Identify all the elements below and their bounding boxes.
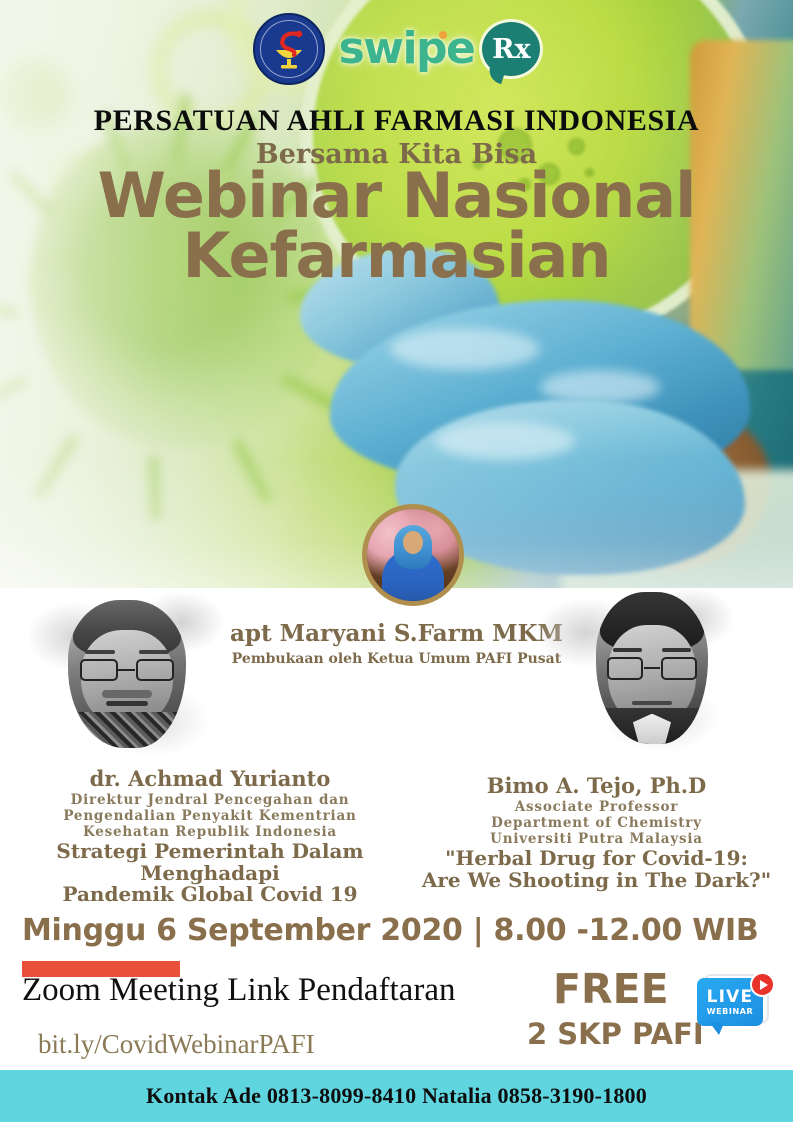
contact-bar: Kontak Ade 0813-8099-8410 Natalia 0858-3… — [0, 1070, 793, 1122]
speaker-affiliation-left: Direktur Jendral Pencegahan dan Pengenda… — [0, 793, 420, 841]
avatar — [596, 592, 708, 744]
live-badge-line1: LIVE — [707, 989, 754, 1006]
organization-name: PERSATUAN AHLI FARMASI INDONESIA — [0, 104, 793, 138]
speaker-topic-right: "Herbal Drug for Covid-19: Are We Shooti… — [400, 848, 793, 891]
logo-bar: swipe Rx — [0, 6, 793, 92]
webinar-poster: swipe Rx PERSATUAN AHLI FARMASI INDONESI… — [0, 0, 793, 1122]
swiperx-logo: swipe Rx — [339, 22, 541, 76]
live-webinar-badge: LIVE WEBINAR — [697, 972, 775, 1040]
live-badge-line2: WEBINAR — [707, 1008, 754, 1016]
speaker-topic-left: Strategi Pemerintah Dalam Menghadapi Pan… — [0, 841, 420, 906]
title-line-2: Kefarmasian — [0, 226, 793, 286]
avatar — [68, 600, 186, 748]
rx-label: Rx — [492, 36, 531, 63]
registration-link[interactable]: bit.ly/CovidWebinarPAFI — [38, 1029, 315, 1060]
swipe-wordmark: swipe — [339, 27, 475, 71]
play-button-icon — [750, 972, 775, 997]
rx-bubble-icon: Rx — [482, 22, 540, 76]
platform-registration-label: Zoom Meeting Link Pendaftaran — [22, 972, 455, 1009]
price-label: FREE — [553, 969, 669, 1010]
contact-text: Kontak Ade 0813-8099-8410 Natalia 0858-3… — [146, 1083, 647, 1109]
pafi-logo-icon — [253, 13, 325, 85]
bowl-of-hygieia-icon — [266, 26, 312, 72]
speaker-name-right: Bimo A. Tejo, Ph.D — [400, 773, 793, 798]
speaker-affiliation-right: Associate Professor Department of Chemis… — [400, 800, 793, 848]
speaker-card-right: Bimo A. Tejo, Ph.D Associate Professor D… — [400, 588, 793, 898]
speaker-photo-left — [30, 584, 240, 759]
event-date-time: Minggu 6 September 2020 | 8.00 -12.00 WI… — [22, 913, 758, 948]
speaker-card-left: dr. Achmad Yurianto Direktur Jendral Pen… — [0, 588, 420, 898]
page-title: Webinar Nasional Kefarmasian — [0, 166, 793, 285]
speaker-photo-right — [540, 580, 750, 755]
credits-label: 2 SKP PAFI — [527, 1020, 704, 1049]
speaker-name-left: dr. Achmad Yurianto — [0, 766, 420, 791]
